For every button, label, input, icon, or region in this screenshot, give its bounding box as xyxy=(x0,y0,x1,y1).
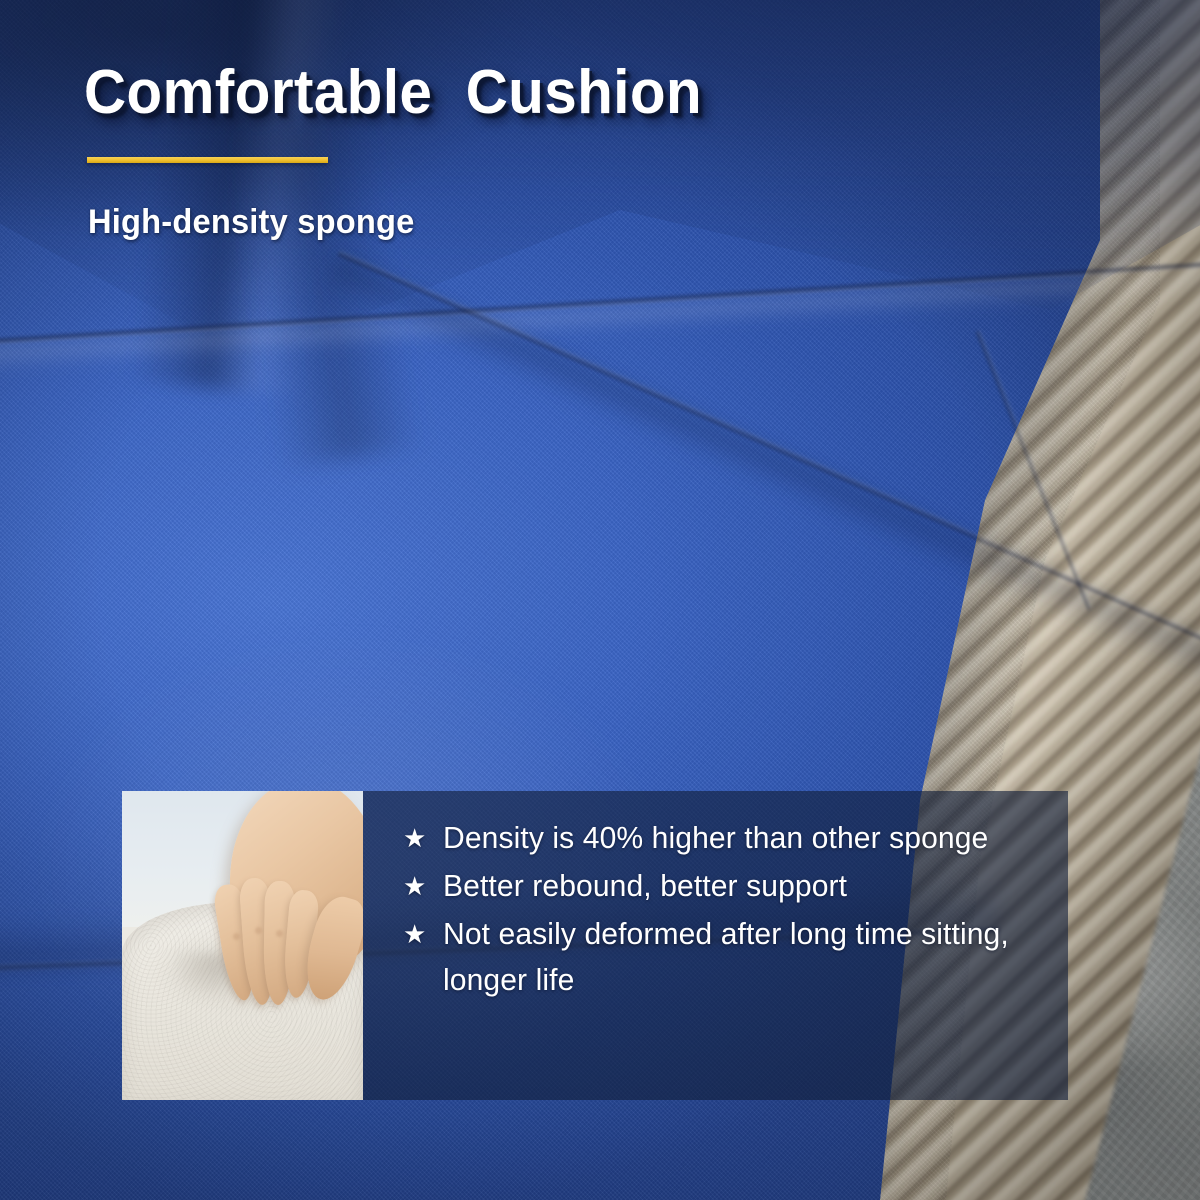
hand-illustration xyxy=(122,791,363,1100)
page-title: Comfortable Cushion xyxy=(84,57,702,128)
star-icon: ★ xyxy=(403,911,443,957)
list-item: ★ Not easily deformed after long time si… xyxy=(403,911,1058,1003)
feature-bullet-list: ★ Density is 40% higher than other spong… xyxy=(403,815,1058,1003)
product-feature-image: Comfortable Cushion High-density sponge … xyxy=(0,0,1200,1200)
feature-panel-text-area: ★ Density is 40% higher than other spong… xyxy=(403,791,1068,1100)
title-underline-rule xyxy=(87,157,328,163)
bullet-text: Density is 40% higher than other sponge xyxy=(443,815,1040,861)
list-item: ★ Density is 40% higher than other spong… xyxy=(403,815,1058,861)
knuckle-crease xyxy=(233,933,240,940)
inset-photo-hand-pressing-foam xyxy=(122,791,363,1100)
page-subtitle: High-density sponge xyxy=(88,203,414,242)
bullet-text: Better rebound, better support xyxy=(443,863,1040,909)
knuckle-crease xyxy=(255,927,262,934)
star-icon: ★ xyxy=(403,863,443,909)
star-icon: ★ xyxy=(403,815,443,861)
list-item: ★ Better rebound, better support xyxy=(403,863,1058,909)
bullet-text: Not easily deformed after long time sitt… xyxy=(443,911,1040,1003)
